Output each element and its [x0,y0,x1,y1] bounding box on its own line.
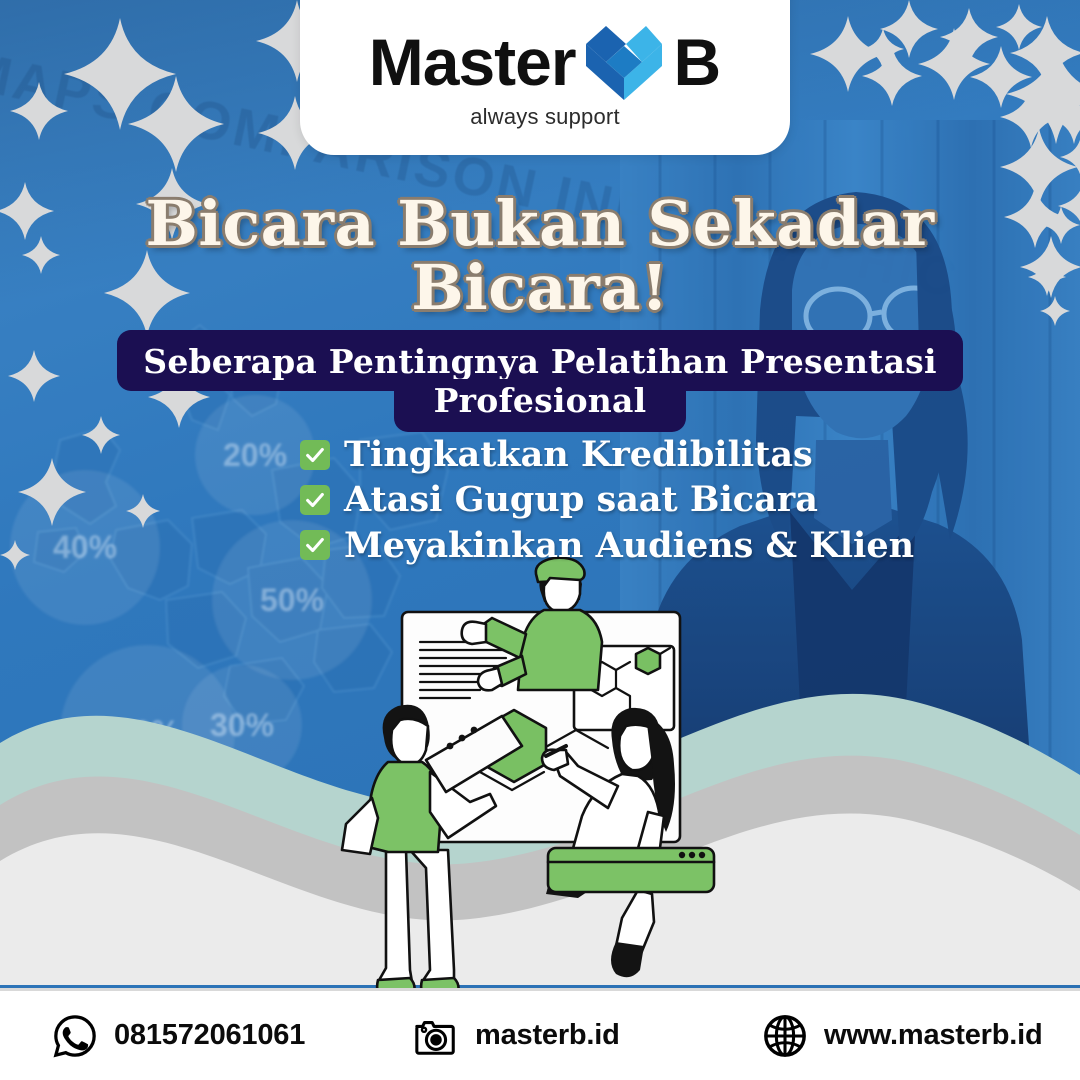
subtitle-badge: Seberapa Pentingnya Pelatihan Presentasi… [0,330,1080,432]
instagram-handle: masterb.id [475,1019,620,1052]
benefit-label: Atasi Gugup saat Bicara [344,479,818,520]
poster-headline: Bicara Bukan Sekadar Bicara! [0,192,1080,321]
subtitle-line-2: Profesional [394,379,687,432]
contact-whatsapp[interactable]: 081572061061 [52,1013,305,1059]
team-presentation-whiteboard-illustration [330,550,750,990]
brand-logo-row: Master B [369,22,721,102]
benefit-label: Tingkatkan Kredibilitas [344,434,813,475]
check-icon [300,530,330,560]
headline-line-2: Bicara! [0,256,1080,320]
brand-logo-card: Master B always support [300,0,790,155]
check-icon [300,440,330,470]
whatsapp-icon [52,1013,98,1059]
whatsapp-number: 081572061061 [114,1019,305,1052]
layered-chevron-m-mark-icon [580,22,668,102]
list-item: Tingkatkan Kredibilitas [300,434,914,475]
website-url: www.masterb.id [824,1019,1043,1052]
brand-letter-b: B [674,29,722,95]
camera-instagram-icon [413,1013,459,1059]
brand-wordmark: Master [369,29,576,95]
headline-line-1: Bicara Bukan Sekadar [0,192,1080,256]
contact-website[interactable]: www.masterb.id [762,1013,1043,1059]
contact-footer: 081572061061 masterb.id [0,988,1080,1080]
benefit-label: Meyakinkan Audiens & Klien [344,525,914,566]
list-item: Meyakinkan Audiens & Klien [300,525,914,566]
list-item: Atasi Gugup saat Bicara [300,479,914,520]
brand-tagline: always support [470,104,620,130]
benefits-list: Tingkatkan Kredibilitas Atasi Gugup saat… [300,434,914,566]
poster-canvas: MAPS COMPARISON INFOGRAPHIC 20% 40% 50% … [0,0,1080,1080]
check-icon [300,485,330,515]
globe-icon [762,1013,808,1059]
contact-instagram[interactable]: masterb.id [413,1013,620,1059]
